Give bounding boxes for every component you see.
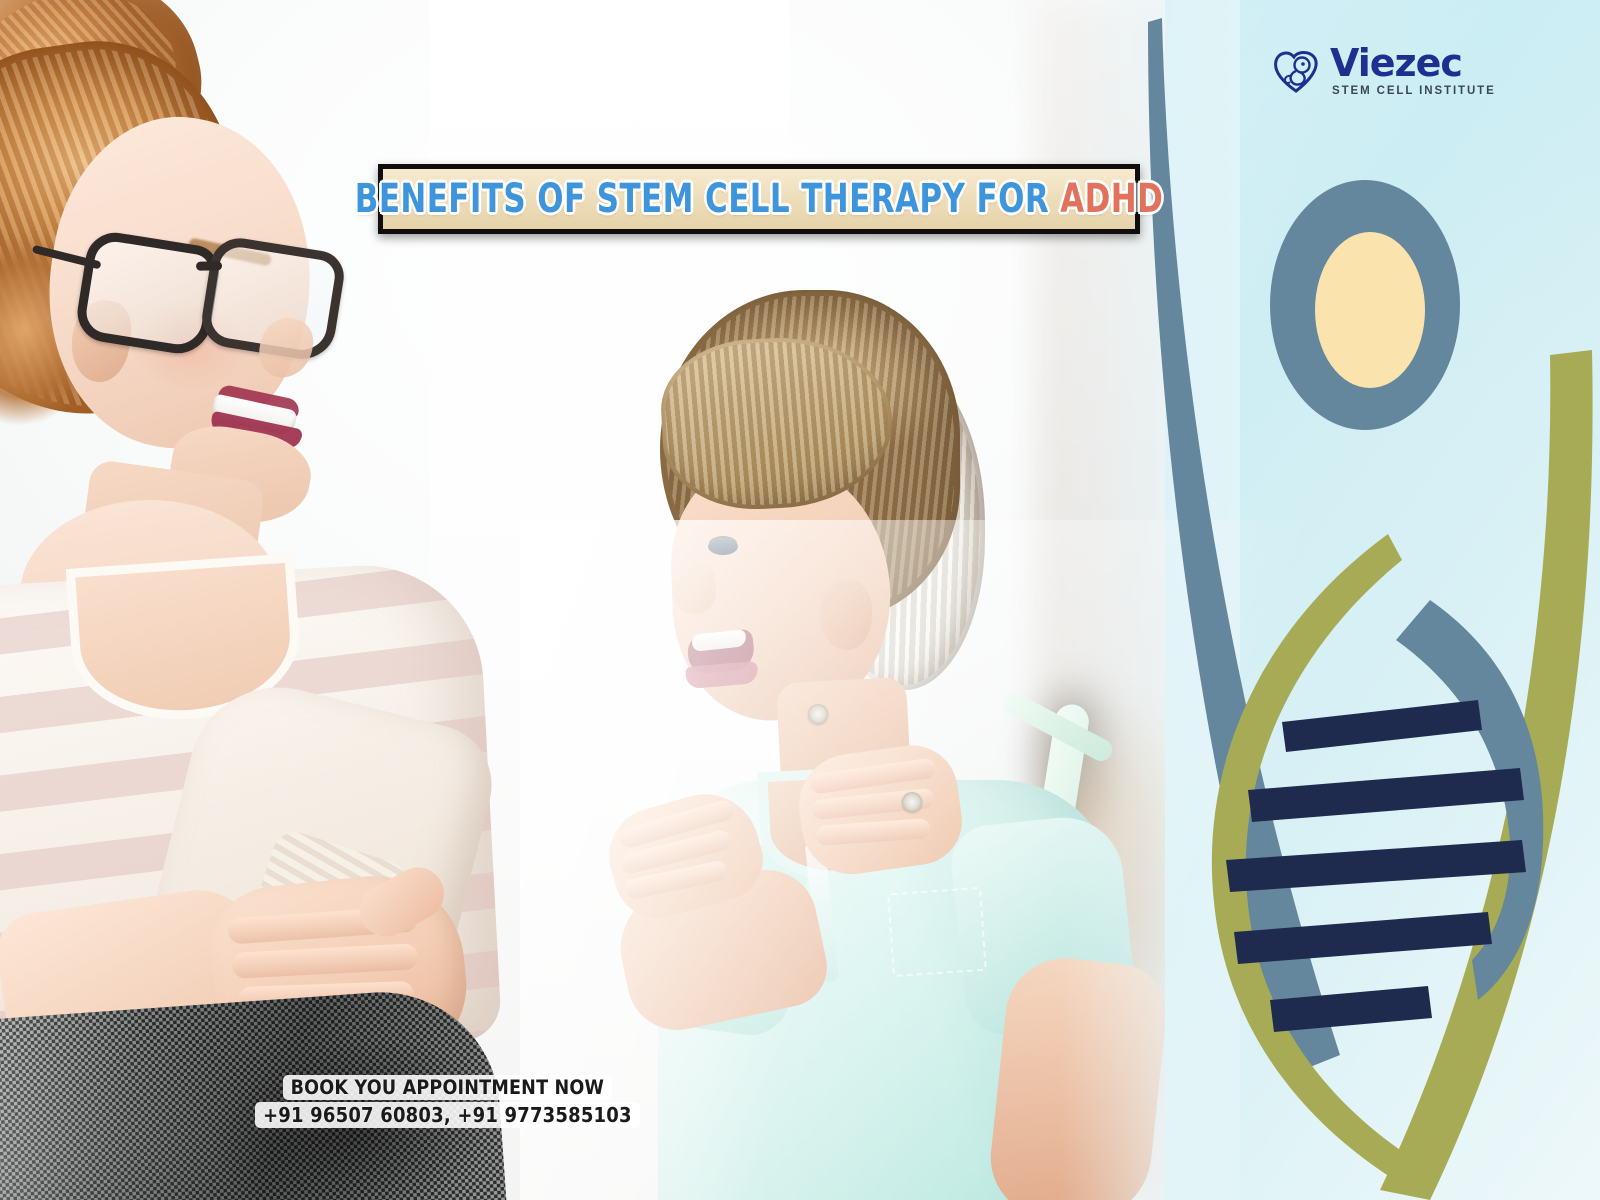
boy-figure bbox=[600, 280, 1165, 1200]
logo-brand-name: Viezec bbox=[1330, 44, 1496, 82]
cta-heading: BOOK YOU APPOINTMENT NOW bbox=[283, 1075, 612, 1100]
eyeglass-bridge bbox=[196, 261, 222, 270]
eyeglass-lens-left bbox=[73, 229, 223, 359]
poster-canvas: Viezec STEM CELL INSTITUTE BENEFITS OF S… bbox=[0, 0, 1600, 1200]
page-title-accent: ADHD bbox=[1060, 176, 1163, 222]
boy-shirt-button bbox=[902, 792, 922, 812]
dna-rungs bbox=[1226, 700, 1526, 1032]
boy-eye bbox=[708, 538, 738, 555]
title-banner: BENEFITS OF STEM CELL THERAPY FOR ADHD bbox=[378, 164, 1140, 234]
boy-arm-right bbox=[985, 952, 1165, 1200]
logo-wordmark-group: Viezec STEM CELL INSTITUTE bbox=[1330, 44, 1496, 98]
page-title: BENEFITS OF STEM CELL THERAPY FOR ADHD bbox=[355, 176, 1163, 222]
dna-strand-blue bbox=[1396, 600, 1543, 1000]
title-banner-inner: BENEFITS OF STEM CELL THERAPY FOR ADHD bbox=[383, 169, 1135, 229]
heart-embryo-icon bbox=[1272, 48, 1320, 94]
dna-rung bbox=[1248, 768, 1524, 822]
figure-head-center bbox=[1315, 232, 1425, 388]
dna-rung bbox=[1226, 840, 1526, 892]
figure-left-arm-shape bbox=[1148, 18, 1340, 1075]
brand-artwork-human-dna bbox=[1130, 0, 1600, 1200]
boy-ear bbox=[820, 580, 872, 650]
figure-head-ring bbox=[1270, 180, 1460, 430]
figure-right-arm-shape bbox=[1380, 350, 1593, 1200]
boy-shirt-pocket bbox=[887, 887, 987, 977]
logo-tagline: STEM CELL INSTITUTE bbox=[1332, 86, 1496, 98]
page-title-main: BENEFITS OF STEM CELL THERAPY FOR bbox=[355, 176, 1060, 222]
brand-logo[interactable]: Viezec STEM CELL INSTITUTE bbox=[1272, 44, 1496, 98]
cta-phone-numbers[interactable]: +91 96507 60803, +91 9773585103 bbox=[255, 1102, 640, 1128]
dna-strand-olive bbox=[1212, 534, 1415, 1182]
boy-shirt-button bbox=[808, 704, 828, 724]
dna-rung bbox=[1282, 700, 1482, 752]
dna-rung bbox=[1234, 912, 1492, 964]
dna-rung bbox=[1270, 986, 1432, 1032]
cta-block[interactable]: BOOK YOU APPOINTMENT NOW +91 96507 60803… bbox=[255, 1075, 640, 1128]
